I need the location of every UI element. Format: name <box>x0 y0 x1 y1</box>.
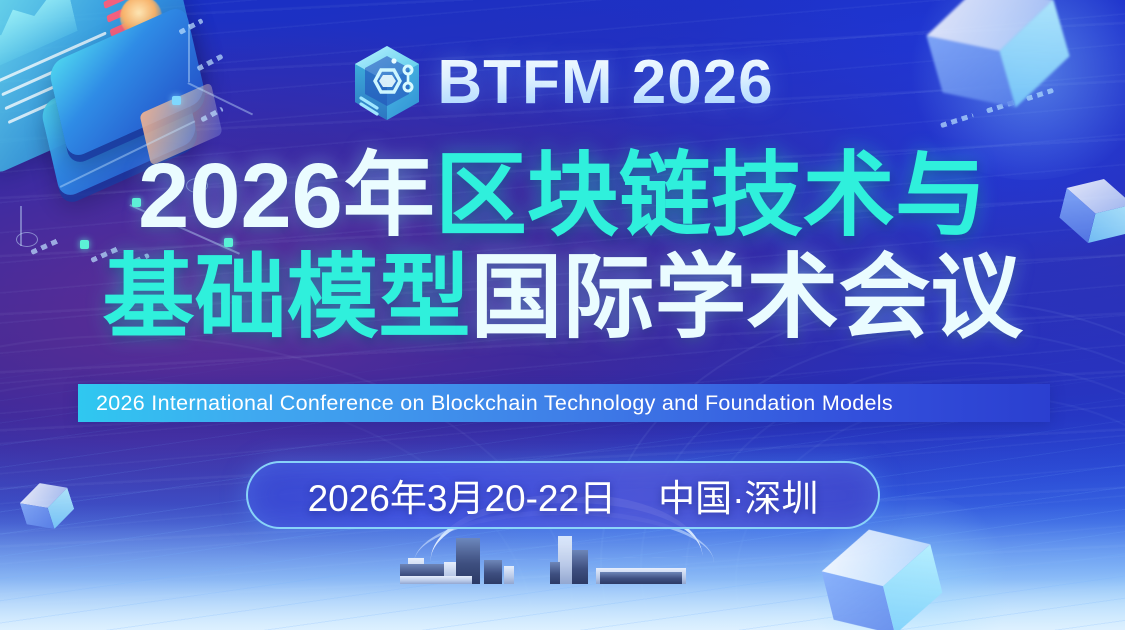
event-location: 中国·深圳 <box>658 468 818 522</box>
brand-acronym: BTFM 2026 <box>437 52 773 114</box>
brand-lockup: BTFM 2026 <box>0 44 1125 122</box>
headline-line1-year: 2026年 <box>138 145 435 247</box>
event-info-pill: 2026年3月20-22日 中国·深圳 <box>246 461 880 529</box>
conference-banner: BTFM 2026 2026年区块链技术与 基础模型国际学术会议 2026 In… <box>0 0 1125 630</box>
english-subtitle: 2026 International Conference on Blockch… <box>96 391 893 416</box>
headline-line1-topic: 区块链技术与 <box>435 145 987 247</box>
headline-line-1: 2026年区块链技术与 <box>0 150 1125 242</box>
headline-line2-event: 国际学术会议 <box>471 247 1023 349</box>
headline-line2-topic: 基础模型 <box>102 247 470 349</box>
event-date: 2026年3月20-22日 <box>308 468 617 522</box>
blockchain-hexagon-cube-icon <box>351 44 423 122</box>
english-subtitle-bar: 2026 International Conference on Blockch… <box>78 384 1050 422</box>
headline-line-2: 基础模型国际学术会议 <box>0 252 1125 344</box>
